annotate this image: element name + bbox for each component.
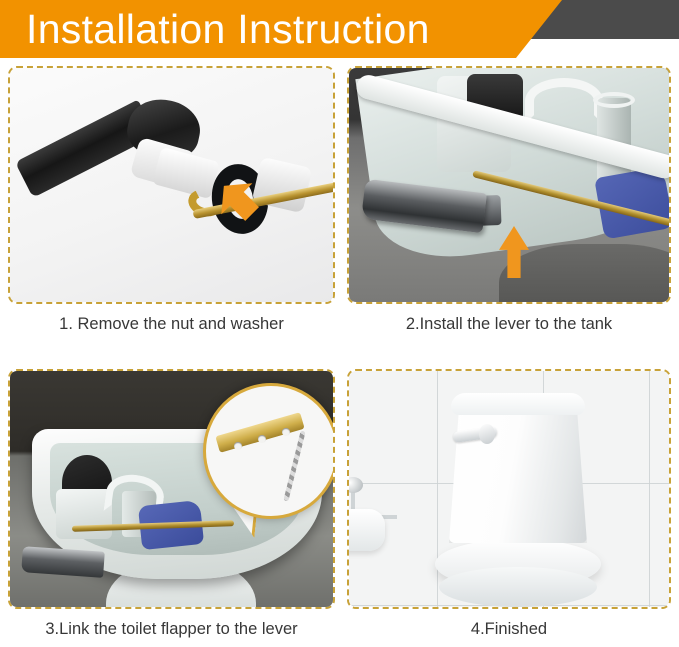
step-3-illustration bbox=[10, 371, 333, 607]
toilet-paper-roll bbox=[347, 509, 385, 551]
step-1-illustration bbox=[10, 68, 333, 302]
step-4-panel bbox=[347, 369, 671, 609]
refill-hose bbox=[525, 78, 603, 124]
step-3-panel bbox=[8, 369, 335, 609]
callout-bubble bbox=[203, 383, 335, 519]
header-banner: Installation Instruction bbox=[0, 0, 679, 62]
step-1-caption: 1. Remove the nut and washer bbox=[8, 315, 335, 334]
step-2-caption: 2.Install the lever to the tank bbox=[347, 315, 671, 334]
metal-chain bbox=[283, 430, 305, 501]
overflow-tube-top bbox=[593, 92, 635, 108]
step-1-panel bbox=[8, 66, 335, 304]
toilet-bowl bbox=[439, 567, 597, 607]
step-4-illustration bbox=[349, 371, 669, 607]
arm-hole-1 bbox=[234, 442, 242, 450]
toilet-tank-lid bbox=[451, 393, 585, 415]
fill-valve bbox=[56, 489, 112, 539]
brass-arm-detail bbox=[215, 412, 304, 453]
step-2-panel bbox=[347, 66, 671, 304]
toilet-tank bbox=[449, 395, 587, 543]
arrow-up-icon bbox=[499, 226, 529, 278]
flush-lever-knob bbox=[479, 424, 495, 444]
step-2-illustration bbox=[349, 68, 669, 302]
arm-hole-3 bbox=[282, 428, 290, 436]
step-3-caption: 3.Link the toilet flapper to the lever bbox=[8, 620, 335, 639]
arm-hole-2 bbox=[258, 435, 266, 443]
step-4-caption: 4.Finished bbox=[347, 620, 671, 639]
page-title: Installation Instruction bbox=[26, 2, 430, 56]
